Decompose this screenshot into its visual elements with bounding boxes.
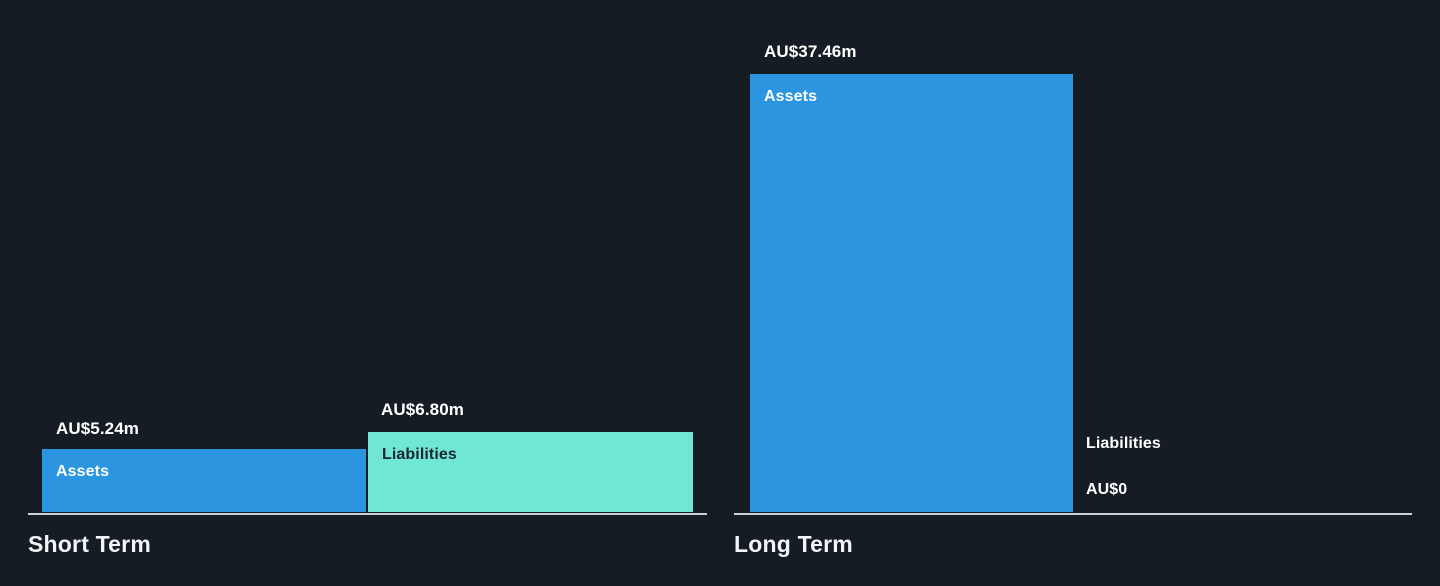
panel-long-term: AU$37.46m Assets Liabilities AU$0 Long T… [720,0,1440,586]
plot-area-short-term: AU$5.24m Assets AU$6.80m Liabilities [0,0,720,512]
axis-baseline-long-term [734,513,1412,515]
financial-position-bar-chart: AU$5.24m Assets AU$6.80m Liabilities Sho… [0,0,1440,586]
series-label-short-term-liabilities: Liabilities [382,446,457,464]
panel-short-term: AU$5.24m Assets AU$6.80m Liabilities Sho… [0,0,720,586]
axis-baseline-short-term [28,513,707,515]
bar-long-term-assets[interactable]: Assets [750,74,1073,512]
value-label-long-term-assets: AU$37.46m [764,42,857,62]
value-label-long-term-liabilities: AU$0 [1086,481,1127,499]
bar-short-term-assets[interactable]: Assets [42,449,366,512]
series-label-long-term-liabilities: Liabilities [1086,435,1161,453]
series-label-short-term-assets: Assets [56,463,109,481]
value-label-short-term-liabilities: AU$6.80m [381,400,464,420]
value-label-short-term-assets: AU$5.24m [56,419,139,439]
axis-title-long-term: Long Term [734,531,853,558]
plot-area-long-term: AU$37.46m Assets Liabilities AU$0 [720,0,1440,512]
axis-title-short-term: Short Term [28,531,151,558]
bar-short-term-liabilities[interactable]: Liabilities [368,432,693,512]
series-label-long-term-assets: Assets [764,88,817,106]
